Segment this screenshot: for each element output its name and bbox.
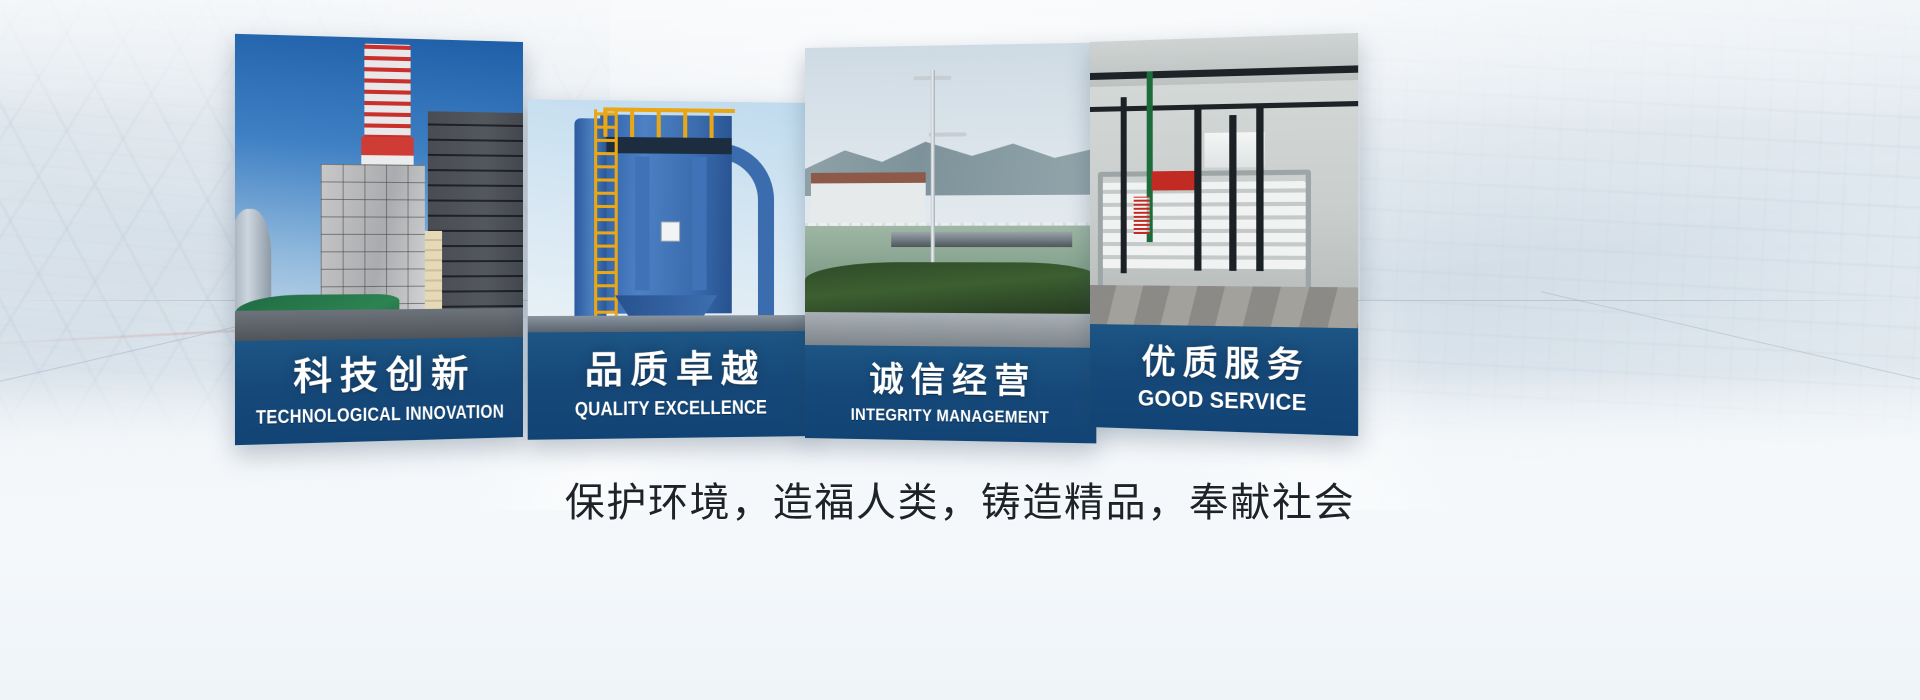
hero-banner: 科技创新 TECHNOLOGICAL INNOVATION <box>0 0 1920 700</box>
water-treatment-membrane-skid-photo <box>1090 33 1358 328</box>
panel-title-en: TECHNOLOGICAL INNOVATION <box>256 402 504 427</box>
power-plant-chimney-photo <box>235 34 523 341</box>
sewage-treatment-plant-photo <box>805 43 1096 348</box>
panel-caption: 诚信经营 INTEGRITY MANAGEMENT <box>805 345 1096 443</box>
blue-dust-collector-photo <box>528 99 813 332</box>
feature-panel-technological-innovation[interactable]: 科技创新 TECHNOLOGICAL INNOVATION <box>235 34 523 445</box>
panel-caption: 科技创新 TECHNOLOGICAL INNOVATION <box>235 337 523 445</box>
panel-title-cn: 科技创新 <box>286 355 476 396</box>
feature-panel-quality-excellence[interactable]: 品质卓越 QUALITY EXCELLENCE <box>528 99 813 440</box>
panel-title-cn: 诚信经营 <box>862 362 1036 399</box>
panel-title-en: INTEGRITY MANAGEMENT <box>850 405 1048 425</box>
feature-panel-row: 科技创新 TECHNOLOGICAL INNOVATION <box>0 0 1920 700</box>
feature-panel-good-service[interactable]: 优质服务 GOOD SERVICE <box>1090 33 1358 436</box>
panel-title-en: GOOD SERVICE <box>1138 387 1307 414</box>
panel-caption: 品质卓越 QUALITY EXCELLENCE <box>528 331 813 440</box>
banner-tagline: 保护环境，造福人类，铸造精品，奉献社会 <box>0 470 1920 528</box>
feature-panel-integrity-management[interactable]: 诚信经营 INTEGRITY MANAGEMENT <box>805 43 1096 444</box>
panel-caption: 优质服务 GOOD SERVICE <box>1090 324 1358 436</box>
panel-title-cn: 优质服务 <box>1135 344 1310 383</box>
panel-title-en: QUALITY EXCELLENCE <box>575 398 767 419</box>
panel-title-cn: 品质卓越 <box>577 350 765 389</box>
